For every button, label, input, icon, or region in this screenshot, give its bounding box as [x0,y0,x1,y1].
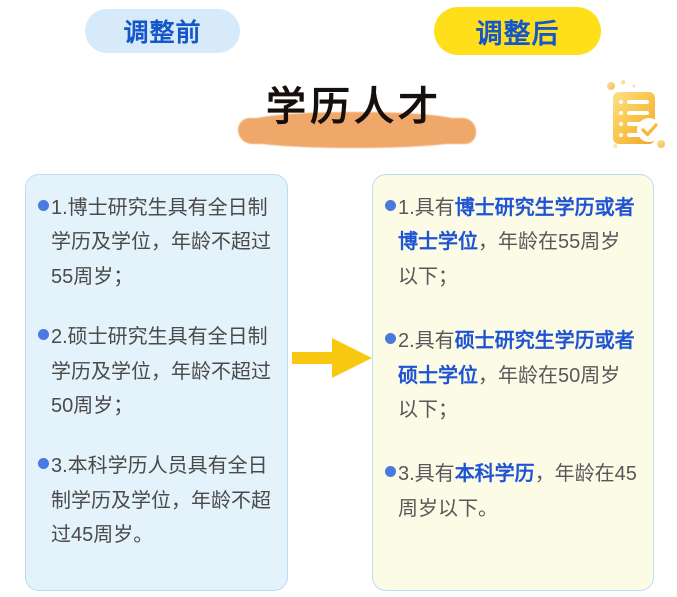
bullet-icon [385,200,396,211]
list-item: 3.本科学历人员具有全日制学历及学位，年龄不超过45周岁。 [38,449,273,552]
list-item: 3.具有本科学历，年龄在45周岁以下。 [385,457,639,526]
before-item-3-text: 3.本科学历人员具有全日制学历及学位，年龄不超过45周岁。 [51,449,273,552]
bullet-icon [385,333,396,344]
list-item: 1.具有博士研究生学历或者博士学位，年龄在55周岁以下； [385,191,639,294]
after-item-2-text: 2.具有硕士研究生学历或者硕士学位，年龄在50周岁以下； [398,324,639,427]
list-item: 1.博士研究生具有全日制学历及学位，年龄不超过55周岁； [38,191,273,294]
right-arrow-icon [292,336,372,380]
after-card: 1.具有博士研究生学历或者博士学位，年龄在55周岁以下； 2.具有硕士研究生学历… [372,174,654,591]
badge-before: 调整前 [85,9,240,53]
badge-after: 调整后 [434,7,601,55]
infographic-page: 调整前 调整后 学历人才 [0,0,677,597]
before-card: 1.博士研究生具有全日制学历及学位，年龄不超过55周岁； 2.硕士研究生具有全日… [25,174,288,591]
clipboard-check-icon [601,74,671,154]
badge-before-label: 调整前 [123,13,201,49]
before-item-1-text: 1.博士研究生具有全日制学历及学位，年龄不超过55周岁； [51,191,273,294]
badge-after-label: 调整后 [476,12,560,51]
after-item-1-part-1: 1.具有 [398,197,455,219]
after-item-1-text: 1.具有博士研究生学历或者博士学位，年龄在55周岁以下； [398,191,639,294]
before-item-2-text: 2.硕士研究生具有全日制学历及学位，年龄不超过50周岁； [51,320,273,423]
after-item-2-part-1: 2.具有 [398,330,455,352]
headline-title: 学历人才 [228,74,480,132]
after-item-3-highlight: 本科学历 [455,463,535,485]
list-item: 2.具有硕士研究生学历或者硕士学位，年龄在50周岁以下； [385,324,639,427]
after-item-3-part-1: 3.具有 [398,463,455,485]
bullet-icon [38,458,49,469]
headline: 学历人才 [228,74,480,150]
after-item-3-text: 3.具有本科学历，年龄在45周岁以下。 [398,457,639,526]
list-item: 2.硕士研究生具有全日制学历及学位，年龄不超过50周岁； [38,320,273,423]
bullet-icon [38,329,49,340]
bullet-icon [38,200,49,211]
bullet-icon [385,466,396,477]
